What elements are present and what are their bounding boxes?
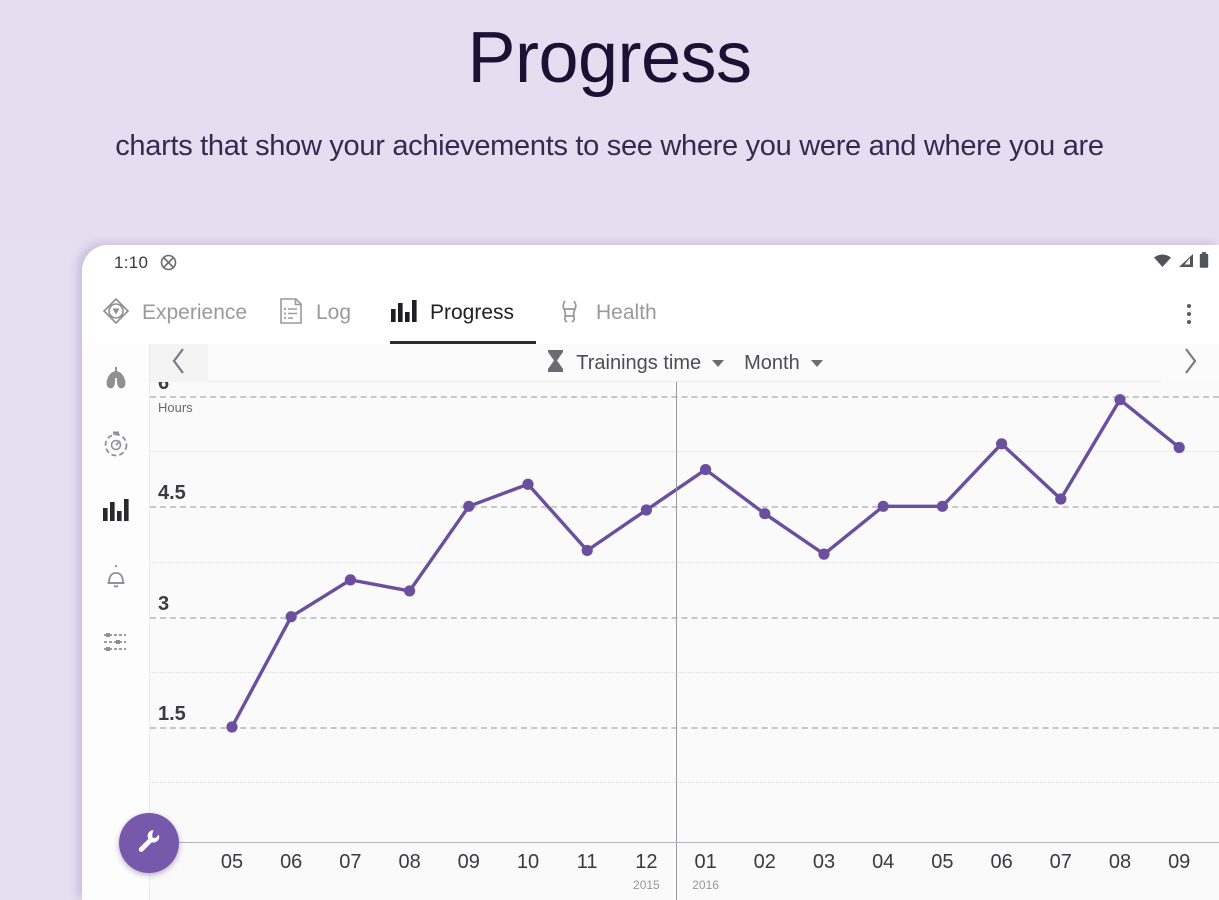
rail-item-progress[interactable]: [82, 488, 150, 536]
promo-header: Progress charts that show your achieveme…: [0, 0, 1219, 245]
chart-selectors: Trainings time Month: [150, 344, 1219, 382]
x-axis-tick-label: 11: [557, 851, 617, 874]
next-period-button[interactable]: [1161, 344, 1219, 382]
series-data-point[interactable]: [345, 574, 356, 585]
x-axis-tick-label: 09: [1149, 851, 1209, 874]
x-axis-tick-label: 07: [320, 851, 380, 874]
series-data-point[interactable]: [463, 501, 474, 512]
sliders-icon: [102, 630, 130, 659]
series-data-point[interactable]: [404, 585, 415, 596]
series-data-point[interactable]: [522, 479, 533, 490]
series-data-point[interactable]: [1114, 394, 1125, 405]
series-data-point[interactable]: [996, 438, 1007, 449]
period-select[interactable]: Month: [744, 352, 823, 375]
stopwatch-icon: [102, 430, 130, 463]
x-axis-tick-label: 07: [1031, 851, 1091, 874]
metric-select[interactable]: Trainings time: [546, 349, 724, 378]
tools-fab-button[interactable]: [119, 813, 179, 873]
tab-bar: Experience Log: [82, 282, 1219, 344]
series-data-point[interactable]: [582, 545, 593, 556]
period-label: Month: [744, 352, 800, 375]
chevron-down-icon: [712, 360, 724, 367]
x-axis-tick-label: 02: [735, 851, 795, 874]
series-data-point[interactable]: [1174, 442, 1185, 453]
metric-label: Trainings time: [576, 352, 701, 375]
tab-label: Log: [316, 301, 351, 325]
signal-icon: [1177, 253, 1194, 273]
wrench-icon: [134, 826, 164, 861]
series-data-point[interactable]: [700, 464, 711, 475]
chevron-down-icon: [811, 360, 823, 367]
battery-icon: [1199, 252, 1209, 273]
x-axis-tick-label: 09: [439, 851, 499, 874]
x-axis-year-label: 2015: [616, 878, 676, 892]
bar-chart-icon: [102, 498, 130, 527]
x-axis-tick-label: 08: [380, 851, 440, 874]
chevron-right-icon: [1180, 346, 1200, 381]
x-axis-tick-label: 03: [794, 851, 854, 874]
year-divider: [676, 382, 677, 900]
status-icons: [1153, 252, 1209, 273]
series-data-point[interactable]: [878, 501, 889, 512]
series-data-point[interactable]: [818, 549, 829, 560]
bar-chart-icon: [390, 299, 418, 328]
log-icon: [278, 297, 304, 330]
rail-item-breathing[interactable]: [82, 356, 150, 404]
tab-progress[interactable]: Progress: [390, 282, 514, 344]
tab-label: Experience: [142, 301, 247, 325]
page-subtitle: charts that show your achievements to se…: [0, 130, 1219, 163]
tab-experience[interactable]: Experience: [102, 282, 247, 344]
status-bar: 1:10: [82, 245, 1219, 282]
x-axis-tick-label: 06: [972, 851, 1032, 874]
chart-toolbar: Trainings time Month: [150, 344, 1219, 382]
x-axis-tick-label: 05: [912, 851, 972, 874]
wifi-icon: [1153, 253, 1172, 273]
experience-icon: [102, 297, 130, 330]
rail-item-reminders[interactable]: [82, 554, 150, 602]
page-title: Progress: [0, 22, 1219, 94]
x-axis-tick-label: 01: [676, 851, 736, 874]
x-axis-tick-label: 10: [498, 851, 558, 874]
chart-plot-area[interactable]: 1.534.56Hours 05060708091011120102030405…: [150, 382, 1219, 900]
overflow-menu-icon[interactable]: [1175, 299, 1203, 329]
series-data-point[interactable]: [286, 611, 297, 622]
status-clock: 1:10: [114, 253, 148, 273]
series-data-point[interactable]: [226, 721, 237, 732]
hourglass-icon: [546, 349, 565, 378]
series-data-point[interactable]: [1055, 493, 1066, 504]
series-data-point[interactable]: [641, 504, 652, 515]
x-axis-tick-label: 06: [261, 851, 321, 874]
chart-x-axis-line: [150, 842, 1219, 843]
series-line: [232, 400, 1179, 727]
do-not-disturb-icon: [160, 254, 177, 271]
tab-label: Health: [596, 301, 657, 325]
x-axis-tick-label: 12: [616, 851, 676, 874]
rail-item-settings[interactable]: [82, 620, 150, 668]
health-icon: [556, 297, 584, 330]
bell-icon: [103, 562, 129, 595]
lungs-icon: [101, 364, 131, 397]
x-axis-tick-label: 05: [202, 851, 262, 874]
tab-label: Progress: [430, 301, 514, 325]
x-axis-tick-label: 08: [1090, 851, 1150, 874]
x-axis-year-label: 2016: [676, 878, 736, 892]
tab-health[interactable]: Health: [556, 282, 657, 344]
series-data-point[interactable]: [759, 508, 770, 519]
rail-item-stopwatch[interactable]: [82, 422, 150, 470]
series-data-point[interactable]: [937, 501, 948, 512]
x-axis-tick-label: 04: [853, 851, 913, 874]
phone-screenshot: 1:10: [82, 245, 1219, 900]
tab-log[interactable]: Log: [278, 282, 351, 344]
chart-series-trainings-time: [150, 382, 1219, 900]
